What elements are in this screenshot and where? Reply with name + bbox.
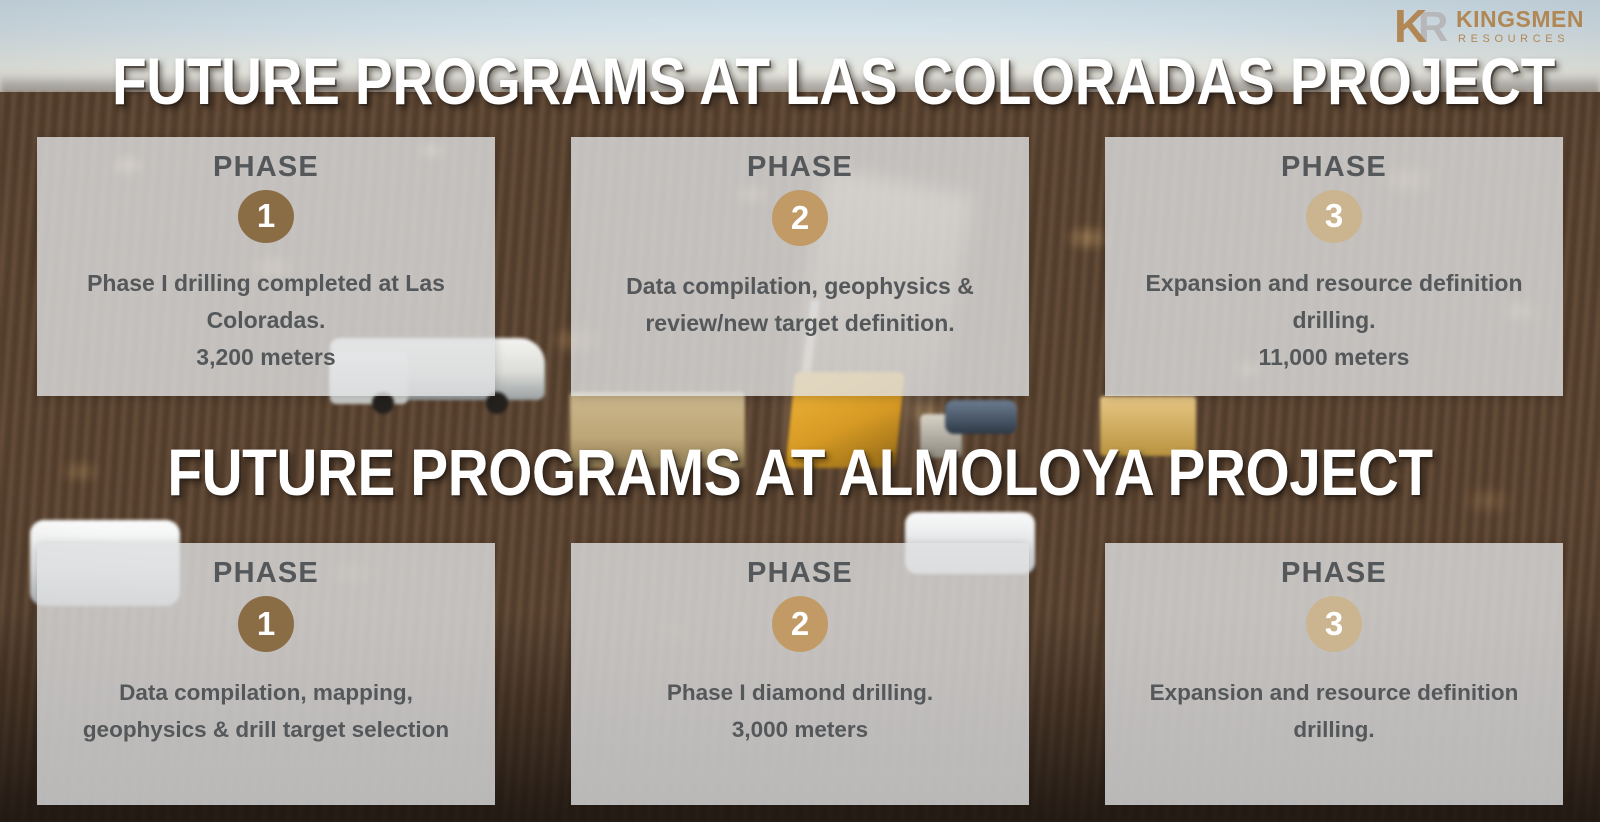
phase-number-badge: 1 bbox=[238, 596, 294, 652]
phase-number-badge: 1 bbox=[238, 190, 294, 243]
phase-label: PHASE bbox=[213, 557, 319, 590]
section-2-heading: FUTURE PROGRAMS AT ALMOLOYA PROJECT bbox=[112, 438, 1488, 506]
phase-card[interactable]: PHASE 2 Phase I diamond drilling.3,000 m… bbox=[571, 543, 1029, 805]
phase-description: Expansion and resource definition drilli… bbox=[1124, 674, 1544, 748]
phase-number-badge: 3 bbox=[1306, 596, 1362, 652]
phase-number-badge: 2 bbox=[772, 190, 828, 246]
phase-card[interactable]: PHASE 3 Expansion and resource definitio… bbox=[1105, 543, 1563, 805]
phase-description: Data compilation, geophysics & review/ne… bbox=[590, 268, 1010, 342]
las-coloradas-phase-row: PHASE 1 Phase I drilling completed at La… bbox=[0, 137, 1600, 396]
phase-number-badge: 3 bbox=[1306, 190, 1362, 243]
phase-card[interactable]: PHASE 3 Expansion and resource definitio… bbox=[1105, 137, 1563, 396]
kingsmen-resources-logo: R K KINGSMEN RESOURCES bbox=[1394, 4, 1584, 48]
presentation-slide: R K KINGSMEN RESOURCES FUTURE PROGRAMS A… bbox=[0, 0, 1600, 822]
phase-label: PHASE bbox=[1281, 557, 1387, 590]
phase-description: Data compilation, mapping, geophysics & … bbox=[56, 674, 476, 748]
phase-card[interactable]: PHASE 1 Data compilation, mapping, geoph… bbox=[37, 543, 495, 805]
section-1-heading: FUTURE PROGRAMS AT LAS COLORADAS PROJECT bbox=[112, 47, 1488, 115]
logo-company-subtitle: RESOURCES bbox=[1456, 34, 1584, 45]
phase-label: PHASE bbox=[747, 557, 853, 590]
phase-number-badge: 2 bbox=[772, 596, 828, 652]
phase-description: Phase I drilling completed at Las Colora… bbox=[56, 265, 476, 376]
phase-label: PHASE bbox=[213, 151, 319, 184]
phase-card[interactable]: PHASE 1 Phase I drilling completed at La… bbox=[37, 137, 495, 396]
phase-card[interactable]: PHASE 2 Data compilation, geophysics & r… bbox=[571, 137, 1029, 396]
kr-monogram-icon: R K bbox=[1394, 4, 1446, 48]
phase-label: PHASE bbox=[1281, 151, 1387, 184]
logo-wordmark: KINGSMEN RESOURCES bbox=[1456, 8, 1584, 45]
phase-label: PHASE bbox=[747, 151, 853, 184]
almoloya-phase-row: PHASE 1 Data compilation, mapping, geoph… bbox=[0, 543, 1600, 805]
logo-company-name: KINGSMEN bbox=[1456, 8, 1584, 31]
phase-description: Expansion and resource definition drilli… bbox=[1124, 265, 1544, 376]
logo-letter-k: K bbox=[1394, 4, 1425, 48]
phase-description: Phase I diamond drilling.3,000 meters bbox=[667, 674, 933, 748]
